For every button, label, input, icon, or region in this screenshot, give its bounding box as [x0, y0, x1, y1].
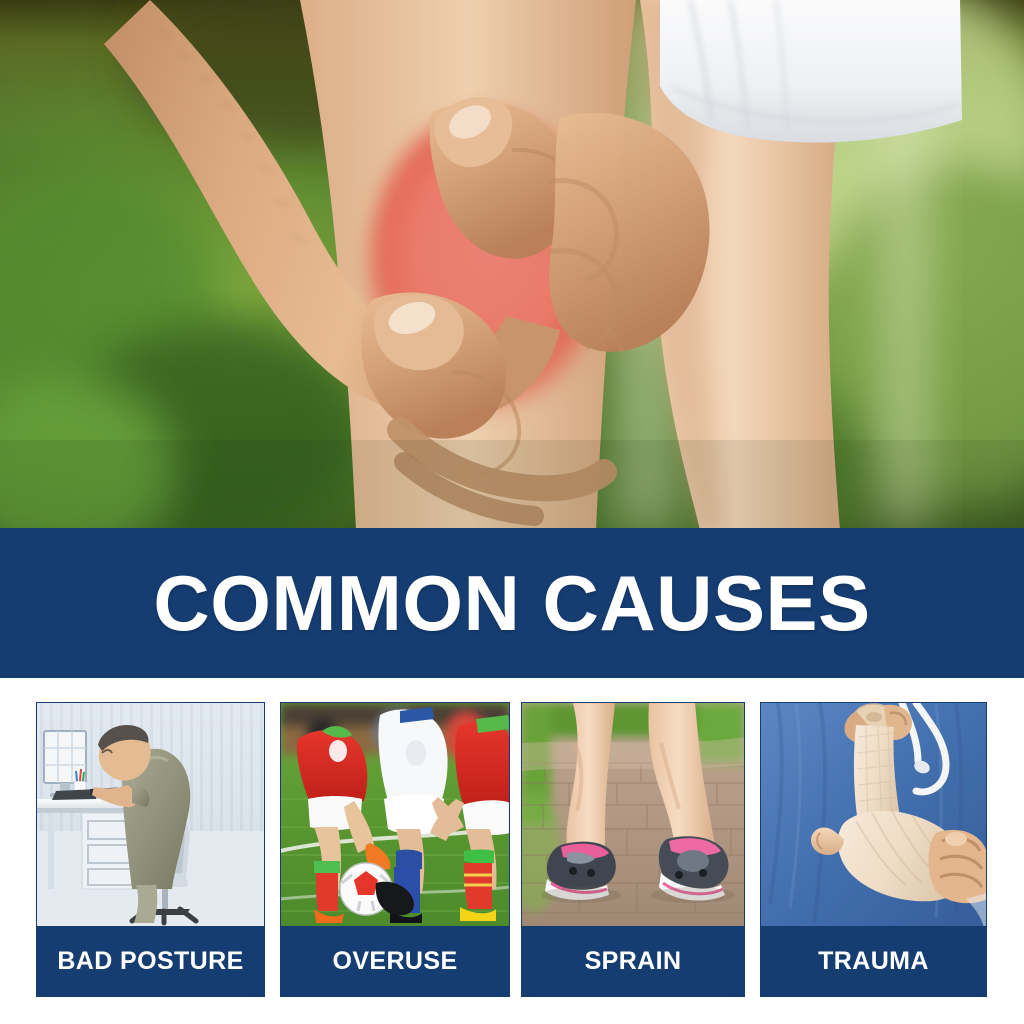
infographic-poster: COMMON CAUSES [0, 0, 1024, 1024]
cause-image-overuse [281, 703, 509, 928]
cause-label-band-overuse: OVERUSE [281, 926, 509, 996]
cause-label-sprain: SPRAIN [585, 947, 682, 976]
causes-card-row: BAD POSTURE [0, 678, 1024, 1024]
banner-title: COMMON CAUSES [153, 564, 870, 642]
hero-image-knee-pain [0, 0, 1024, 530]
cause-card-sprain[interactable]: SPRAIN [521, 702, 745, 997]
cause-image-sprain [522, 703, 744, 928]
cause-label-band-trauma: TRAUMA [761, 926, 986, 996]
cause-label-overuse: OVERUSE [332, 947, 457, 976]
cause-label-band-bad-posture: BAD POSTURE [37, 926, 264, 996]
cause-label-trauma: TRAUMA [818, 947, 929, 976]
cause-label-band-sprain: SPRAIN [522, 926, 744, 996]
cause-image-trauma [761, 703, 986, 928]
cause-card-trauma[interactable]: TRAUMA [760, 702, 987, 997]
cause-image-bad-posture [37, 703, 264, 928]
cause-card-overuse[interactable]: OVERUSE [280, 702, 510, 997]
banner-common-causes: COMMON CAUSES [0, 528, 1024, 678]
cause-card-bad-posture[interactable]: BAD POSTURE [36, 702, 265, 997]
cause-label-bad-posture: BAD POSTURE [57, 947, 243, 976]
